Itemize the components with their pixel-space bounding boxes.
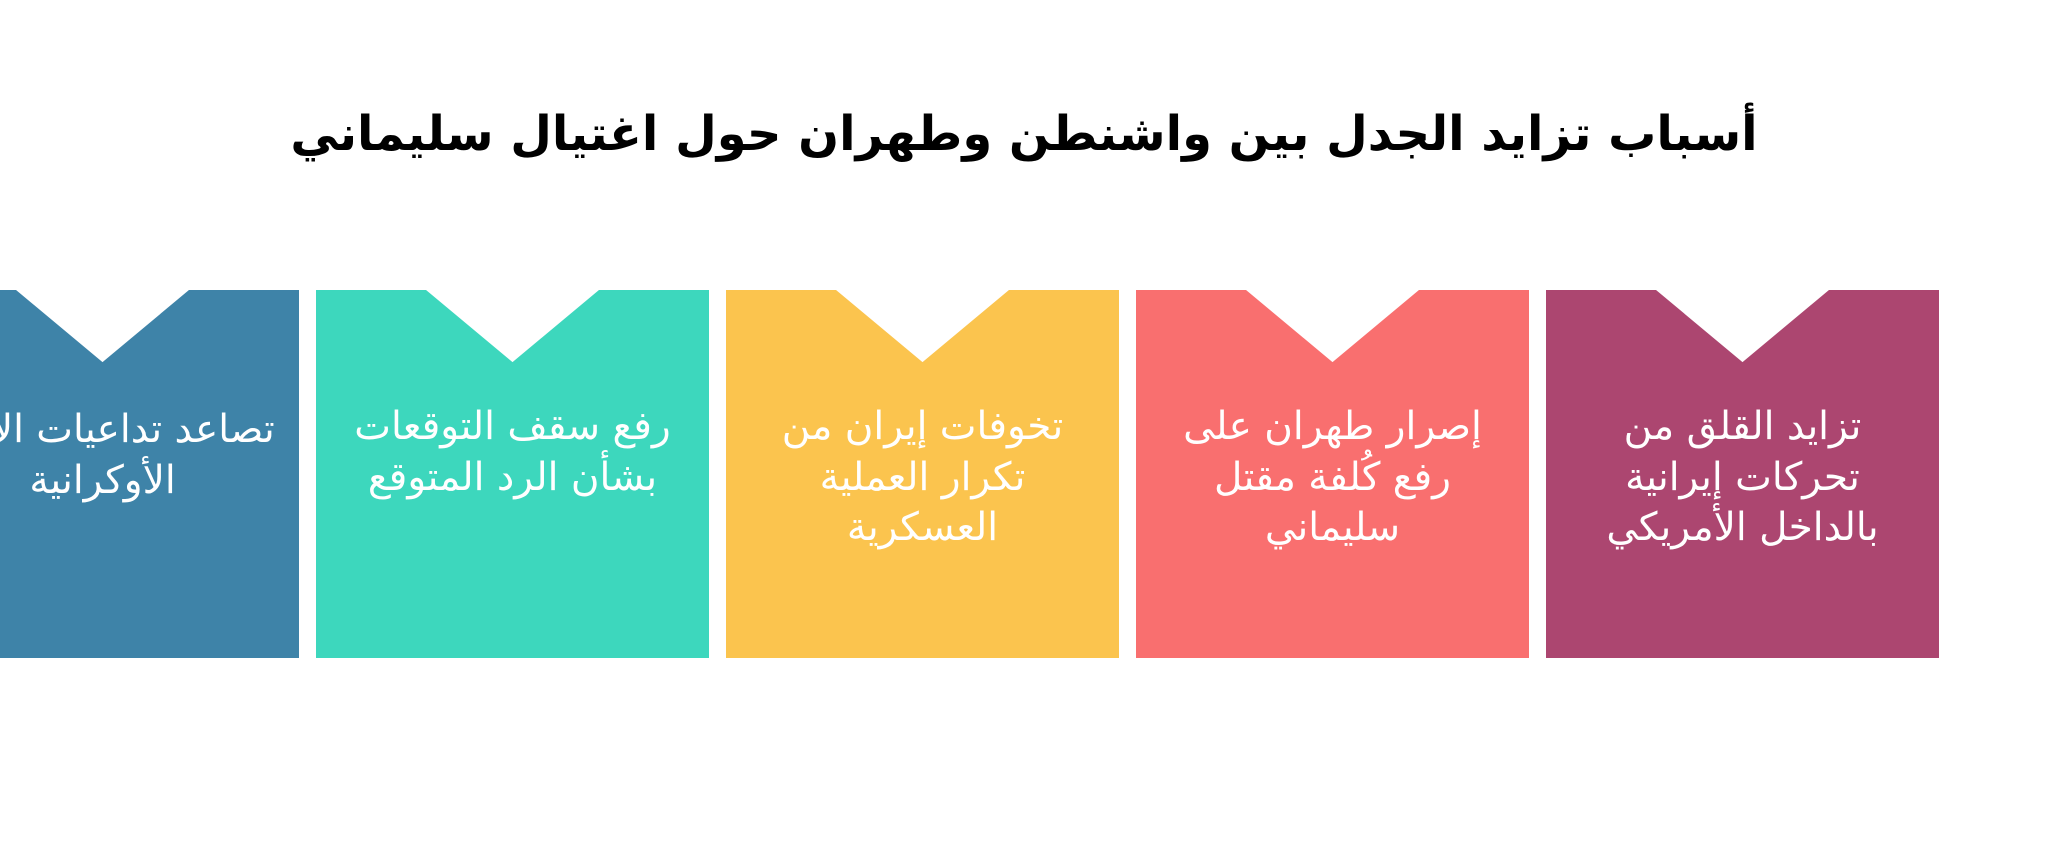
panel-label-4: إصرار طهران على رفع كُلفة مقتل سليماني	[1136, 402, 1529, 554]
page-title: أسباب تزايد الجدل بين واشنطن وطهران حول …	[266, 104, 1781, 164]
title-container: أسباب تزايد الجدل بين واشنطن وطهران حول …	[0, 72, 2048, 196]
panel-label-3: تخوفات إيران من تكرار العملية العسكرية	[726, 402, 1119, 554]
panel-item-4[interactable]: إصرار طهران على رفع كُلفة مقتل سليماني	[1136, 290, 1529, 658]
panel-item-5[interactable]: تزايد القلق من تحركات إيرانية بالداخل ال…	[1546, 290, 1939, 658]
panel-row: تصاعد تداعيات الأزمة الأوكرانية رفع سقف …	[0, 290, 2048, 658]
panel-label-1: تصاعد تداعيات الأزمة الأوكرانية	[0, 405, 299, 506]
panel-label-5: تزايد القلق من تحركات إيرانية بالداخل ال…	[1546, 402, 1939, 554]
panel-item-2[interactable]: رفع سقف التوقعات بشأن الرد المتوقع	[316, 290, 709, 658]
infographic-canvas: أسباب تزايد الجدل بين واشنطن وطهران حول …	[0, 0, 2048, 863]
panel-item-1[interactable]: تصاعد تداعيات الأزمة الأوكرانية	[0, 290, 299, 658]
panel-item-3[interactable]: تخوفات إيران من تكرار العملية العسكرية	[726, 290, 1119, 658]
panel-label-2: رفع سقف التوقعات بشأن الرد المتوقع	[316, 402, 709, 503]
